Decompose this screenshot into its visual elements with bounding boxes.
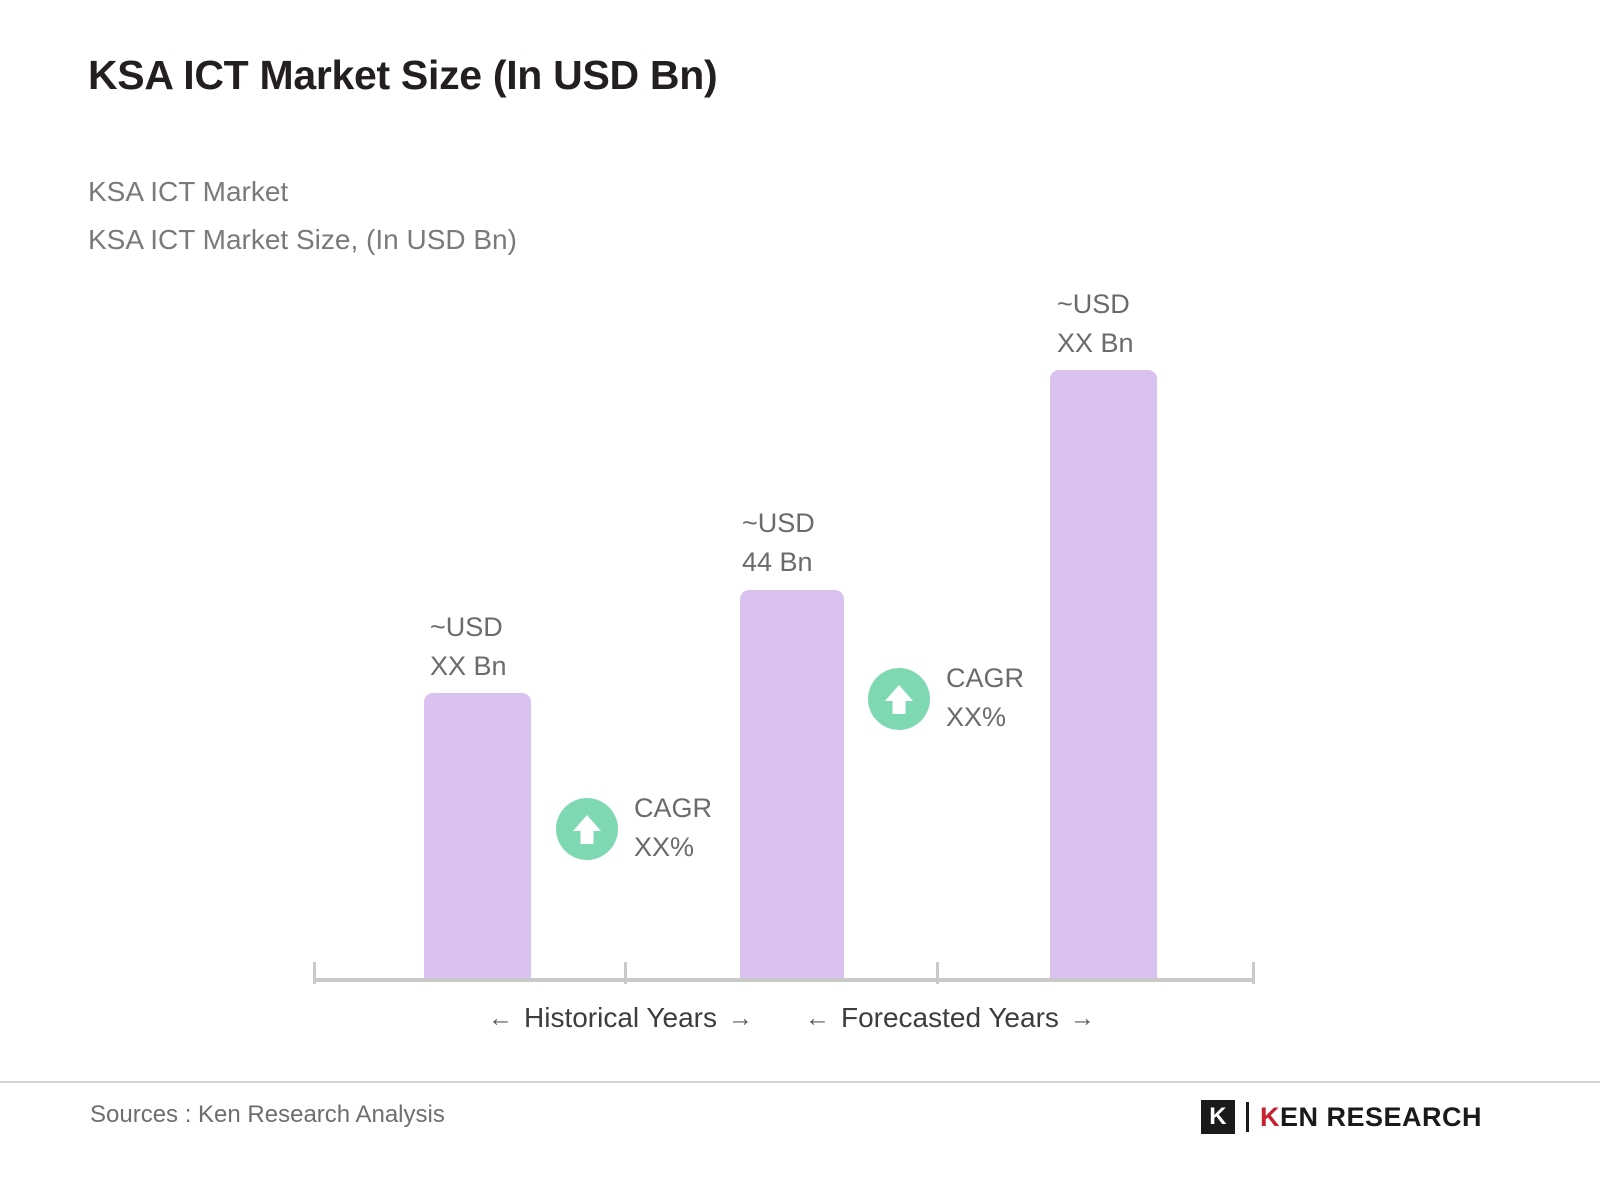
footer-divider (0, 1081, 1600, 1083)
logo-mark-letter: K (1209, 1105, 1226, 1129)
bar-label-line-2: XX Bn (430, 647, 507, 686)
bar-label-line-2: 44 Bn (742, 543, 815, 582)
cagr-text-2: CAGR XX% (946, 659, 1024, 737)
logo-mark-icon: K (1201, 1100, 1235, 1134)
axis-caption-historical: ← Historical Years → (488, 1002, 753, 1034)
bar-label-forecast-year: ~USD XX Bn (1057, 285, 1134, 363)
bar-historical-year (424, 693, 531, 980)
axis-caption-forecast-label: Forecasted Years (841, 1002, 1059, 1034)
bar-label-line-1: ~USD (1057, 285, 1134, 324)
logo-word-k: K (1260, 1102, 1280, 1132)
bar-label-line-1: ~USD (430, 608, 507, 647)
axis-caption-row: ← Historical Years → ← Forecasted Years … (313, 1002, 1255, 1034)
arrow-right-icon: → (728, 1004, 753, 1033)
x-axis-line (313, 978, 1255, 982)
source-note: Sources : Ken Research Analysis (90, 1101, 445, 1129)
logo-wordmark: KEN RESEARCH (1260, 1102, 1482, 1133)
logo-word-rest: EN RESEARCH (1280, 1102, 1482, 1132)
bar-label-base-year: ~USD 44 Bn (742, 504, 815, 582)
arrow-up-icon (868, 668, 930, 730)
bar-chart: ~USD XX Bn ~USD 44 Bn ~USD XX Bn CAGR XX… (0, 0, 1600, 1060)
bar-forecast-year (1050, 370, 1157, 980)
bar-label-line-1: ~USD (742, 504, 815, 543)
cagr-label-line-2: XX% (946, 698, 1024, 737)
axis-caption-historical-label: Historical Years (524, 1002, 717, 1034)
axis-caption-forecast: ← Forecasted Years → (805, 1002, 1095, 1034)
axis-tick-divider-1 (624, 962, 627, 984)
cagr-label-line-1: CAGR (946, 659, 1024, 698)
arrow-left-icon: ← (488, 1004, 513, 1033)
cagr-label-line-2: XX% (634, 828, 712, 867)
arrow-up-icon (556, 798, 618, 860)
cagr-text-1: CAGR XX% (634, 789, 712, 867)
cagr-label-line-1: CAGR (634, 789, 712, 828)
axis-tick-start (313, 962, 316, 984)
axis-tick-end (1252, 962, 1255, 984)
axis-tick-divider-2 (936, 962, 939, 984)
bar-label-line-2: XX Bn (1057, 324, 1134, 363)
arrow-left-icon: ← (805, 1004, 830, 1033)
bar-base-year (740, 590, 844, 980)
arrow-right-icon: → (1070, 1004, 1095, 1033)
ken-research-logo: K KEN RESEARCH (1201, 1100, 1482, 1134)
bar-label-historical-year: ~USD XX Bn (430, 608, 507, 686)
logo-divider (1246, 1102, 1249, 1132)
